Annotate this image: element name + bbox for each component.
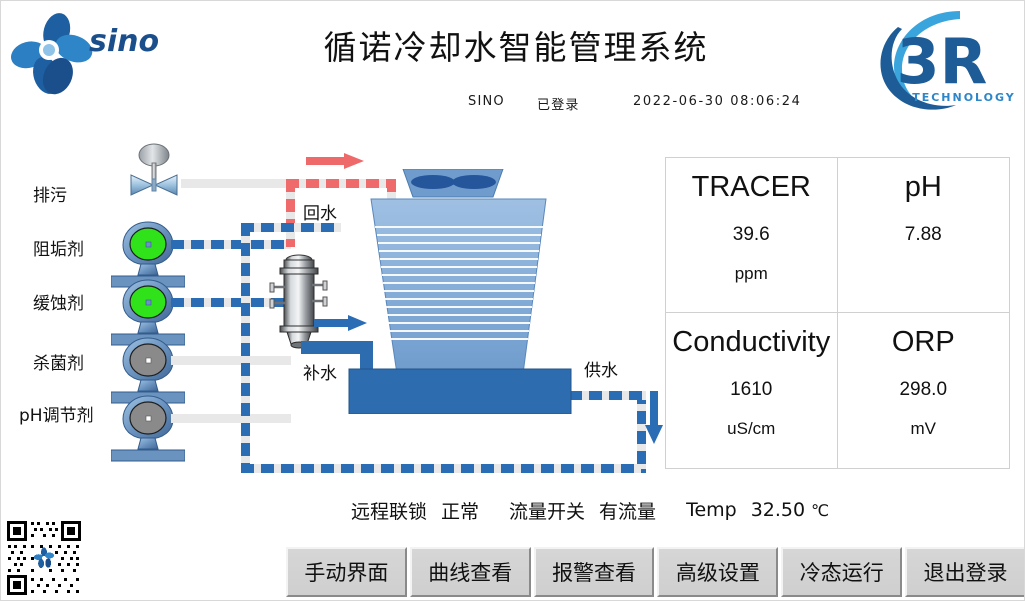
metric-name: TRACER: [692, 172, 811, 204]
return-flow-arrow-icon: [306, 151, 366, 171]
sino-wordmark: sino: [89, 24, 159, 59]
flow-label-supply-water: 供水: [584, 356, 618, 381]
status-unit-temperature: ℃: [811, 501, 829, 520]
cold-start-run-button[interactable]: 冷态运行: [781, 547, 902, 597]
navigation-button-bar: 手动界面 曲线查看 报警查看 高级设置 冷态运行 退出登录: [286, 547, 1025, 597]
pump-corrosion-inhibitor[interactable]: [117, 277, 179, 339]
equipment-label-biocide: 杀菌剂: [33, 349, 84, 374]
3r-technology-logo: 3R TECHNOLOGY: [868, 5, 1018, 117]
3r-subtext: TECHNOLOGY: [912, 91, 1016, 104]
blowdown-valve-icon[interactable]: [119, 143, 189, 203]
3r-wordmark: 3R: [897, 25, 988, 98]
equipment-label-blowdown: 排污: [33, 181, 67, 206]
metric-name: Conductivity: [672, 327, 830, 359]
loop-pipe-bottom: [241, 464, 646, 473]
metric-unit: uS/cm: [727, 419, 775, 439]
flow-label-makeup-water: 补水: [303, 359, 337, 384]
status-label-flow-switch: 流量开关: [509, 497, 585, 524]
return-water-pipe-left: [286, 179, 295, 247]
alarm-view-button[interactable]: 报警查看: [534, 547, 655, 597]
metric-card-conductivity: Conductivity 1610 uS/cm: [666, 313, 838, 468]
sensor-chamber-icon[interactable]: [269, 251, 329, 351]
advanced-settings-button[interactable]: 高级设置: [657, 547, 778, 597]
hmi-screen: sino 循诺冷却水智能管理系统 SINO 已登录 2022-06-30 08:…: [0, 0, 1025, 601]
metric-value: 298.0: [899, 379, 947, 401]
pump-antiscalant[interactable]: [117, 219, 179, 281]
measurement-panel: TRACER 39.6 ppm pH 7.88 Conductivity 161…: [665, 157, 1010, 469]
metric-value: 7.88: [905, 224, 942, 246]
metric-value: 1610: [730, 379, 772, 401]
header-bar: sino 循诺冷却水智能管理系统 SINO 已登录 2022-06-30 08:…: [1, 1, 1025, 125]
page-title: 循诺冷却水智能管理系统: [256, 21, 776, 69]
flow-label-return-water: 回水: [303, 199, 337, 224]
dose-line-ph-adjuster: [171, 414, 291, 423]
status-value-flow-switch: 有流量: [599, 497, 656, 524]
pump-ph-adjuster[interactable]: [117, 393, 179, 455]
status-value-temperature: 32.50: [751, 499, 805, 521]
metric-unit: ppm: [735, 264, 768, 284]
metric-card-orp: ORP 298.0 mV: [838, 313, 1010, 468]
metric-name: ORP: [892, 327, 955, 359]
sino-logo: sino: [11, 9, 191, 99]
blowdown-pipe: [181, 179, 286, 188]
header-username: SINO: [468, 94, 505, 109]
status-value-remote-interlock: 正常: [441, 497, 479, 524]
logout-button[interactable]: 退出登录: [905, 547, 1025, 597]
header-login-status: 已登录: [537, 94, 580, 113]
status-row: 远程联锁 正常 流量开关 有流量 Temp 32.50 ℃: [351, 495, 829, 525]
trend-curve-button[interactable]: 曲线查看: [410, 547, 531, 597]
header-datetime: 2022-06-30 08:06:24: [633, 94, 801, 109]
metric-unit: mV: [911, 419, 937, 439]
manual-interface-button[interactable]: 手动界面: [286, 547, 407, 597]
loop-pipe-left-vertical: [241, 223, 250, 473]
pump-biocide[interactable]: [117, 335, 179, 397]
equipment-label-antiscalant: 阻垢剂: [33, 235, 84, 260]
equipment-label-corrosion-inhibitor: 缓蚀剂: [33, 289, 84, 314]
status-label-temperature: Temp: [686, 499, 737, 521]
metric-card-tracer: TRACER 39.6 ppm: [666, 158, 838, 313]
metric-name: pH: [905, 172, 942, 204]
pump-base-ph-adjuster: [111, 449, 173, 461]
metric-value: 39.6: [733, 224, 770, 246]
equipment-label-ph-adjuster: pH调节剂: [19, 401, 94, 426]
dose-line-biocide: [171, 356, 291, 365]
loop-pipe-to-analyzer: [241, 223, 341, 232]
qr-code: [5, 519, 83, 597]
supply-flow-arrow-icon: [644, 391, 664, 446]
cooling-tower-icon: [341, 169, 581, 414]
metric-card-ph: pH 7.88: [838, 158, 1010, 313]
dose-line-antiscalant: [171, 240, 291, 249]
status-label-remote-interlock: 远程联锁: [351, 497, 427, 524]
